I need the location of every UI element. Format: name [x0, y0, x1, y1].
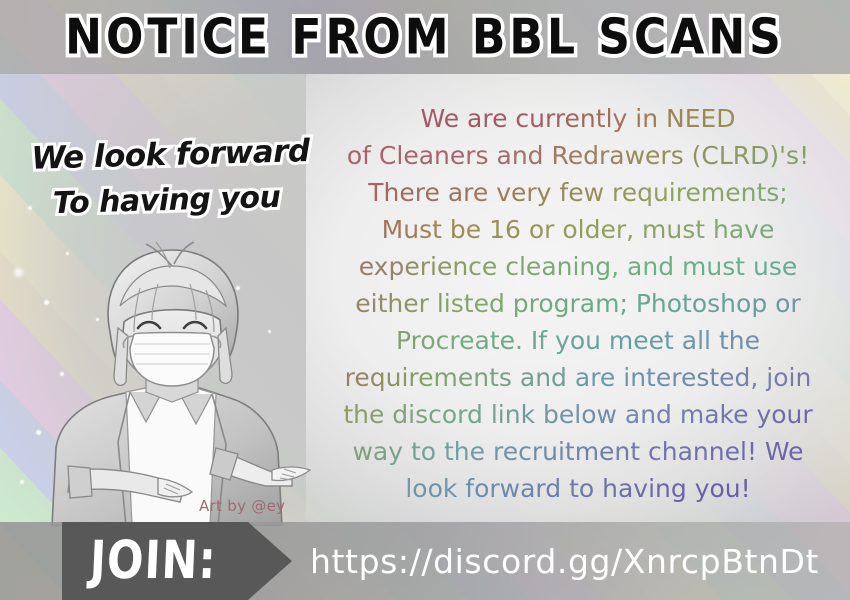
character-artwork [34, 236, 324, 526]
copy-line-4: Must be 16 or older, must have [306, 211, 850, 248]
copy-line-1: We are currently in NEED [306, 100, 850, 137]
notice-poster: NOTICE FROM BBL SCANS We look forward To… [0, 0, 850, 600]
script-headline-line1: We look forward [31, 128, 300, 181]
script-headline-line2: To having you [32, 174, 301, 227]
copy-line-11: look forward to having you! [306, 470, 850, 507]
copy-line-7: Procreate. If you meet all the [306, 322, 850, 359]
copy-line-3: There are very few requirements; [306, 174, 850, 211]
copy-line-8: requirements and are interested, join [306, 359, 850, 396]
copy-line-2: of Cleaners and Redrawers (CLRD)'s! [306, 137, 850, 174]
underlined-term: Must be [382, 215, 481, 244]
join-banner: JOIN: [62, 522, 292, 600]
copy-line-6: either listed program; Photoshop or [306, 285, 850, 322]
copy-line-5: experience cleaning, and must use [306, 248, 850, 285]
copy-line-9: the discord link below and make your [306, 396, 850, 433]
discord-invite-link[interactable]: https://discord.gg/XnrcpBtnDt [310, 522, 840, 600]
page-title: NOTICE FROM BBL SCANS [65, 8, 785, 65]
script-headline: We look forward To having you [31, 128, 301, 227]
header-bar: NOTICE FROM BBL SCANS [0, 0, 850, 74]
art-credit: Art by @ey [199, 497, 285, 515]
underlined-term: NEED [666, 104, 736, 133]
join-label: JOIN: [89, 531, 218, 592]
body-copy: We are currently in NEED of Cleaners and… [306, 100, 850, 507]
copy-line-10: way to the recruitment channel! We [306, 433, 850, 470]
